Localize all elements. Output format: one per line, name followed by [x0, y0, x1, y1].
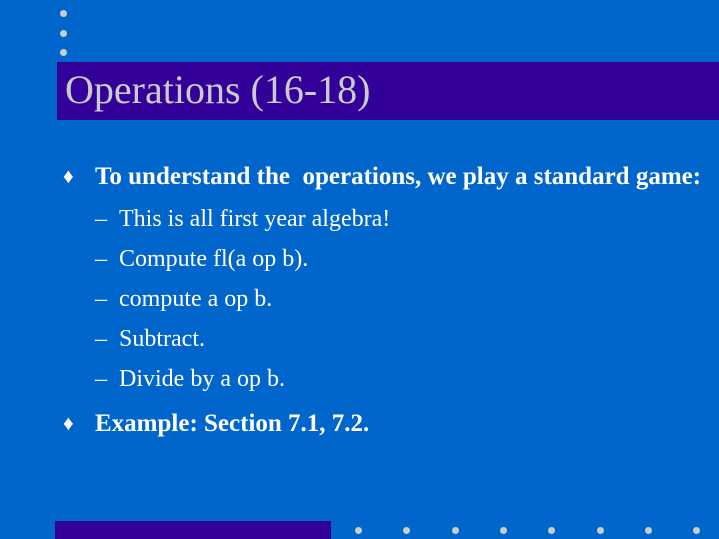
sub-bullet-group: – This is all first year algebra! – Comp…: [57, 199, 712, 399]
dash-bullet-icon: –: [95, 359, 107, 399]
bullet-text: Example: Section 7.1, 7.2.: [95, 405, 712, 442]
bullet-item-level1: ♦ To understand the operations, we play …: [57, 158, 712, 195]
decoration-dot-icon: [60, 49, 67, 56]
decoration-dot-icon: [500, 527, 507, 534]
slide-body: ♦ To understand the operations, we play …: [57, 158, 712, 442]
bullet-text: This is all first year algebra!: [119, 199, 712, 239]
decoration-dot-icon: [355, 527, 362, 534]
bullet-item-level1: ♦ Example: Section 7.1, 7.2.: [57, 405, 712, 442]
presentation-slide: Operations (16-18) ♦ To understand the o…: [0, 0, 719, 539]
bullet-item-level2: – Compute fl(a op b).: [57, 239, 712, 279]
bullet-item-level2: – This is all first year algebra!: [57, 199, 712, 239]
slide-title: Operations (16-18): [65, 61, 370, 119]
bullet-text: To understand the operations, we play a …: [95, 158, 712, 195]
bullet-text: compute a op b.: [119, 279, 712, 319]
bullet-item-level2: – compute a op b.: [57, 279, 712, 319]
decoration-dot-icon: [60, 30, 67, 37]
slide-title-bar: Operations (16-18): [57, 62, 719, 120]
decoration-dot-icon: [693, 527, 700, 534]
dash-bullet-icon: –: [95, 239, 107, 279]
dash-bullet-icon: –: [95, 199, 107, 239]
bullet-item-level2: – Subtract.: [57, 319, 712, 359]
decoration-dot-icon: [597, 527, 604, 534]
bottom-accent-bar: [55, 521, 331, 539]
diamond-bullet-icon: ♦: [63, 158, 74, 195]
decoration-dot-icon: [452, 527, 459, 534]
bullet-item-level2: – Divide by a op b.: [57, 359, 712, 399]
bullet-text: Divide by a op b.: [119, 359, 712, 399]
bullet-text: Compute fl(a op b).: [119, 239, 712, 279]
dash-bullet-icon: –: [95, 279, 107, 319]
dash-bullet-icon: –: [95, 319, 107, 359]
decoration-dot-icon: [403, 527, 410, 534]
decoration-dot-icon: [548, 527, 555, 534]
top-dot-decoration: [60, 6, 70, 60]
bottom-dot-decoration: [355, 527, 700, 537]
diamond-bullet-icon: ♦: [63, 405, 74, 442]
decoration-dot-icon: [60, 10, 67, 17]
decoration-dot-icon: [645, 527, 652, 534]
bullet-text: Subtract.: [119, 319, 712, 359]
